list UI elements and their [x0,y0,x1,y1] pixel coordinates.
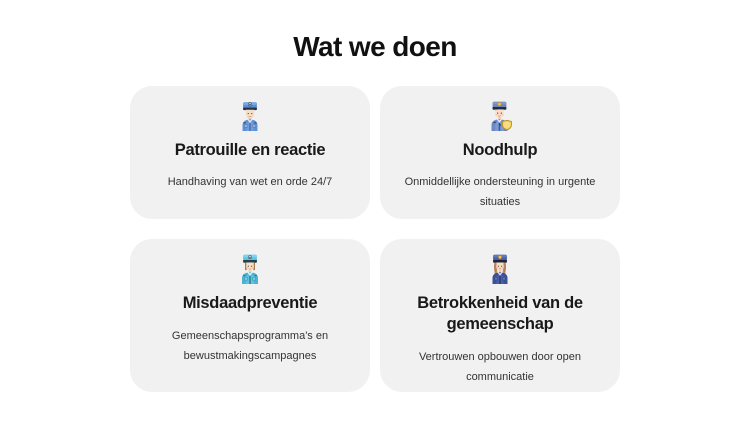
service-card-community[interactable]: Betrokkenheid van de gemeenschap Vertrou… [380,239,620,392]
female-police-officer-long-hair-icon [483,251,517,285]
card-title: Noodhulp [463,140,538,161]
card-description: Onmiddellijke ondersteuning in urgente s… [394,172,606,212]
police-officer-with-badge-icon [483,98,517,132]
page-title: Wat we doen [0,30,750,64]
police-officer-icon [233,98,267,132]
card-description: Handhaving van wet en orde 24/7 [168,172,333,192]
card-title: Betrokkenheid van de gemeenschap [394,293,606,335]
card-title: Patrouille en reactie [175,140,326,161]
card-description: Gemeenschapsprogramma's en bewustmakings… [144,326,356,366]
service-card-grid: Patrouille en reactie Handhaving van wet… [130,86,620,392]
what-we-do-section: Wat we doen [0,0,750,432]
female-police-officer-icon [233,251,267,285]
service-card-patrol[interactable]: Patrouille en reactie Handhaving van wet… [130,86,370,219]
card-title: Misdaadpreventie [183,293,318,314]
service-card-crime-prevention[interactable]: Misdaadpreventie Gemeenschapsprogramma's… [130,239,370,392]
service-card-emergency[interactable]: Noodhulp Onmiddellijke ondersteuning in … [380,86,620,219]
card-description: Vertrouwen opbouwen door open communicat… [394,347,606,387]
